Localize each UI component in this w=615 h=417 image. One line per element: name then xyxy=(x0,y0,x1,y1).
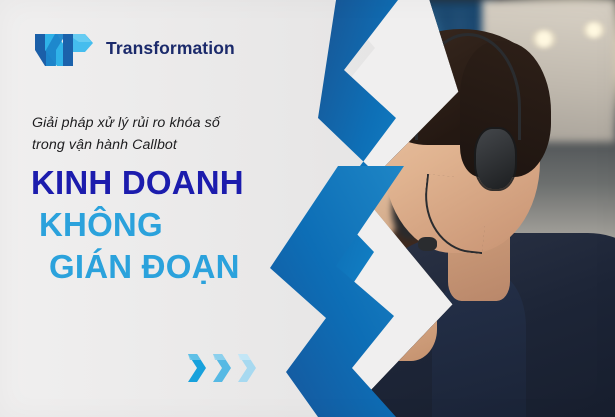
agent-sleeve-cuff xyxy=(328,325,379,369)
divider-blue-top xyxy=(300,0,398,300)
headline-line-3: GIÁN ĐOẠN xyxy=(49,250,296,283)
marketing-banner: Transformation Giải pháp xử lý rủi ro kh… xyxy=(0,0,615,417)
subtitle-line-1: Giải pháp xử lý rủi ro khóa số xyxy=(32,113,282,135)
foreground-agent xyxy=(348,25,615,417)
headline-line-1: KINH DOANH xyxy=(31,166,296,199)
chevron-right-icon xyxy=(236,352,258,384)
brand-logo[interactable]: Transformation xyxy=(33,28,235,68)
call-center-photo xyxy=(325,0,615,417)
agent-hand xyxy=(365,273,437,361)
chevron-right-icon xyxy=(211,352,233,384)
headline-line-2: KHÔNG xyxy=(39,208,296,241)
headset-microphone-icon xyxy=(418,237,437,251)
left-content-panel: Transformation Giải pháp xử lý rủi ro kh… xyxy=(0,0,300,417)
chevron-right-icon xyxy=(186,352,208,384)
subtitle-line-2: trong vận hành Callbot xyxy=(32,135,282,157)
mp-transformation-logo-icon xyxy=(33,28,95,68)
triple-chevron-right-icon xyxy=(186,352,258,384)
headline: KINH DOANH KHÔNG GIÁN ĐOẠN xyxy=(31,166,296,283)
brand-name: Transformation xyxy=(106,38,235,59)
subtitle: Giải pháp xử lý rủi ro khóa số trong vận… xyxy=(32,113,282,156)
